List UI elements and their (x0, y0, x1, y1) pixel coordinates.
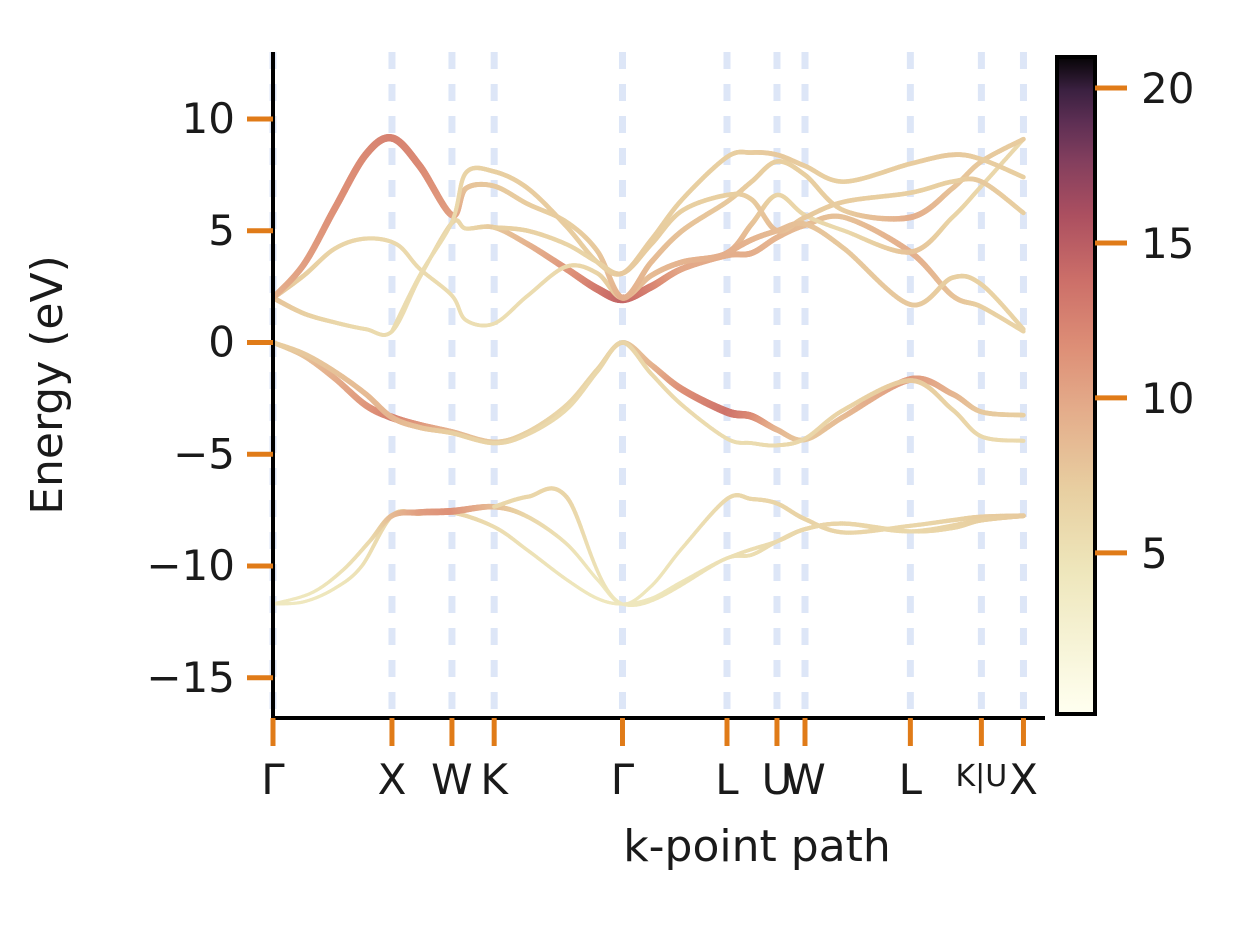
band-structure-figure: 1050−5−10−15 ΓXWKΓLUWLK|UX Energy (eV) k… (0, 0, 1260, 927)
figure-canvas: 1050−5−10−15 ΓXWKΓLUWLK|UX Energy (eV) k… (0, 0, 1260, 927)
band-segment (1023, 212, 1024, 213)
